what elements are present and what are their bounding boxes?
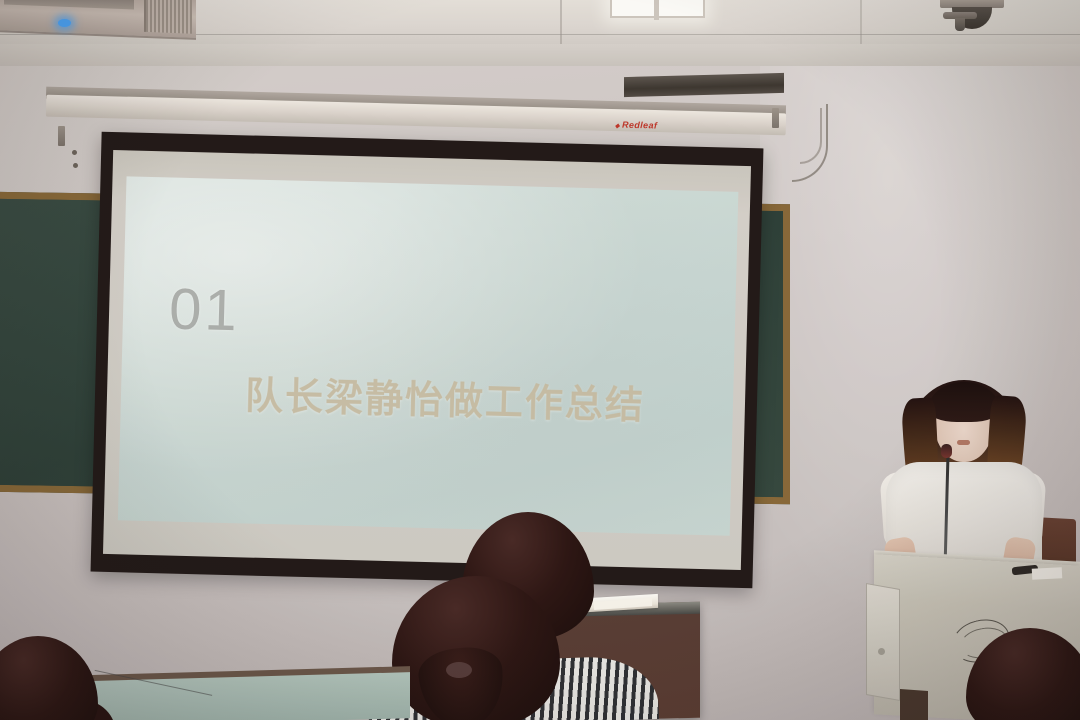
screen-bracket-left	[58, 126, 65, 146]
air-duct	[624, 73, 784, 97]
screen-bracket-right	[772, 108, 779, 128]
podium-side-panel	[866, 583, 900, 701]
hair-tie	[446, 662, 472, 678]
projector-power-led	[58, 19, 71, 27]
slide-title: 队长梁静怡做工作总结	[244, 364, 645, 429]
screen-surface: 01 队长梁静怡做工作总结	[103, 150, 751, 570]
slide-texture	[118, 176, 739, 535]
slide-section-number: 01	[168, 275, 240, 344]
podium-paper	[1032, 567, 1063, 580]
screen-mount-pin	[73, 163, 78, 168]
projection-screen: 01 队长梁静怡做工作总结	[91, 132, 764, 589]
presentation-slide: 01 队长梁静怡做工作总结	[118, 176, 739, 535]
sprinkler-icon	[943, 12, 977, 19]
classroom-scene: Redleaf 01 队长梁静怡做工作总结	[0, 0, 1080, 720]
screen-mount-pin	[72, 150, 77, 155]
projector-body	[4, 0, 134, 9]
speaker-mouth	[957, 440, 970, 445]
screen-brand-logo: Redleaf	[615, 119, 658, 130]
ceiling-light-panel	[610, 0, 705, 18]
microphone-icon	[941, 444, 952, 458]
podium-panel-knob	[878, 648, 885, 655]
projector-vent	[144, 0, 192, 34]
podium-leg	[900, 689, 928, 720]
ceiling-speaker-icon	[940, 0, 1004, 8]
